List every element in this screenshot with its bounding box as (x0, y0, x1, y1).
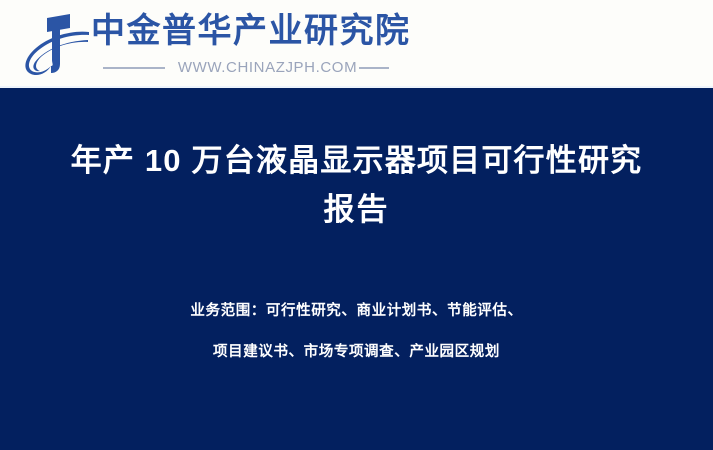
brand-url-row: WWW.CHINAZJPH.COM (86, 57, 406, 79)
zjph-ribbon-logo-icon (14, 8, 90, 80)
url-rule-right (359, 67, 389, 69)
page-title-line-2: 报告 (56, 185, 657, 234)
business-scope-line-2: 项目建议书、市场专项调查、产业园区规划 (56, 332, 657, 373)
brand-url: WWW.CHINAZJPH.COM (178, 59, 357, 77)
page-title: 年产 10 万台液晶显示器项目可行性研究 报告 (56, 136, 657, 234)
brand-name: 中金普华产业研究院 (91, 9, 411, 53)
business-scope-line-1: 业务范围：可行性研究、商业计划书、节能评估、 (56, 291, 657, 332)
report-cover-page: 中金普华产业研究院 WWW.CHINAZJPH.COM 年产 10 万台液晶显示… (0, 0, 713, 450)
header-band: 中金普华产业研究院 WWW.CHINAZJPH.COM (0, 0, 713, 88)
business-scope: 业务范围：可行性研究、商业计划书、节能评估、 项目建议书、市场专项调查、产业园区… (56, 291, 657, 373)
page-title-line-1: 年产 10 万台液晶显示器项目可行性研究 (56, 136, 657, 185)
url-rule-left (103, 67, 165, 69)
header-divider (0, 86, 713, 88)
